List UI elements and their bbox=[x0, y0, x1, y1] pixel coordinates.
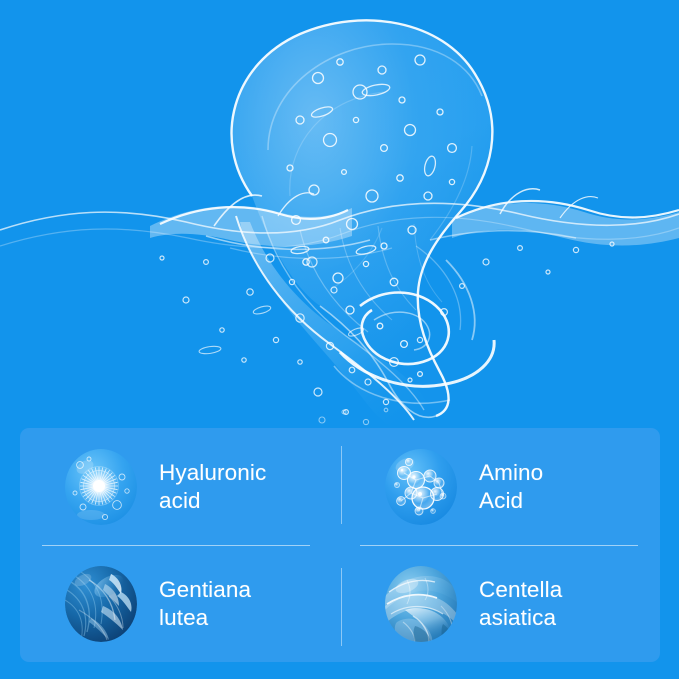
ingredient-label: Hyaluronic acid bbox=[159, 459, 266, 515]
gentiana-lutea-sphere-icon bbox=[65, 566, 137, 642]
ingredient-panel: Hyaluronic acid bbox=[20, 428, 660, 662]
amino-acid-bubbles-icon bbox=[385, 449, 457, 525]
ingredient-item-amino-acid[interactable]: Amino Acid bbox=[340, 428, 660, 545]
water-gel-splash-artwork bbox=[0, 0, 679, 436]
ingredient-item-centella-asiatica[interactable]: Centella asiatica bbox=[340, 545, 660, 662]
ingredient-label: Amino Acid bbox=[479, 459, 543, 515]
ingredient-label: Centella asiatica bbox=[479, 576, 562, 632]
hyaluronic-acid-sphere-icon bbox=[65, 449, 137, 525]
ingredient-item-gentiana-lutea[interactable]: Gentiana lutea bbox=[20, 545, 340, 662]
ingredient-label: Gentiana lutea bbox=[159, 576, 251, 632]
centella-asiatica-sphere-icon bbox=[385, 566, 457, 642]
product-infographic: Hyaluronic acid bbox=[0, 0, 679, 679]
ingredient-item-hyaluronic-acid[interactable]: Hyaluronic acid bbox=[20, 428, 340, 545]
